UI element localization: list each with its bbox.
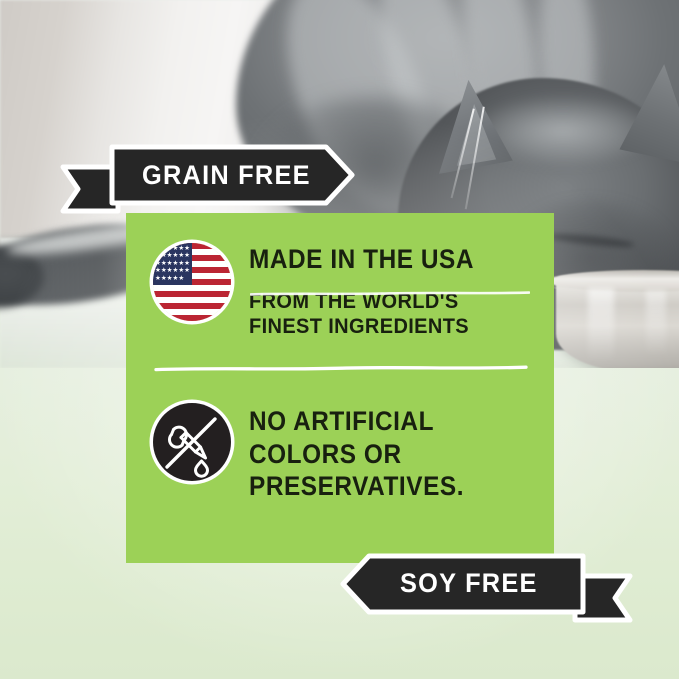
feature-line-no-artificial-1: NO ARTIFICIAL [249,405,464,438]
ribbon-grain-free: GRAIN FREE [58,143,358,215]
feature-subline-usa-2: FINEST INGREDIENTS [249,314,476,339]
feature-headline-usa: MADE IN THE USA [249,245,474,273]
poster-canvas: ★★★ ★★★ ★★★ ★★★ ★★★ ★★★ ★★★ ★★★ ★★★ ★★ [0,0,679,679]
no-dropper-circle-icon [153,403,231,481]
feature-line-no-artificial-2: COLORS OR [249,438,464,471]
ribbon-grain-free-label: GRAIN FREE [142,160,311,191]
section-divider [154,365,528,372]
feature-card: ★★★ ★★★ ★★★ ★★★ ★★★ ★★★ ★★★ ★★★ ★★★ ★★ [126,213,554,563]
ribbon-soy-free-label: SOY FREE [400,568,538,599]
us-flag-circle-icon: ★★★ ★★★ ★★★ ★★★ ★★★ ★★★ ★★★ ★★★ ★★★ ★★ [153,243,231,321]
feature-line-no-artificial-3: PRESERVATIVES. [249,470,464,503]
feature-no-artificial: NO ARTIFICIAL COLORS OR PRESERVATIVES. [153,403,483,503]
headline-underline [250,291,530,296]
ribbon-soy-free: SOY FREE [347,552,637,624]
